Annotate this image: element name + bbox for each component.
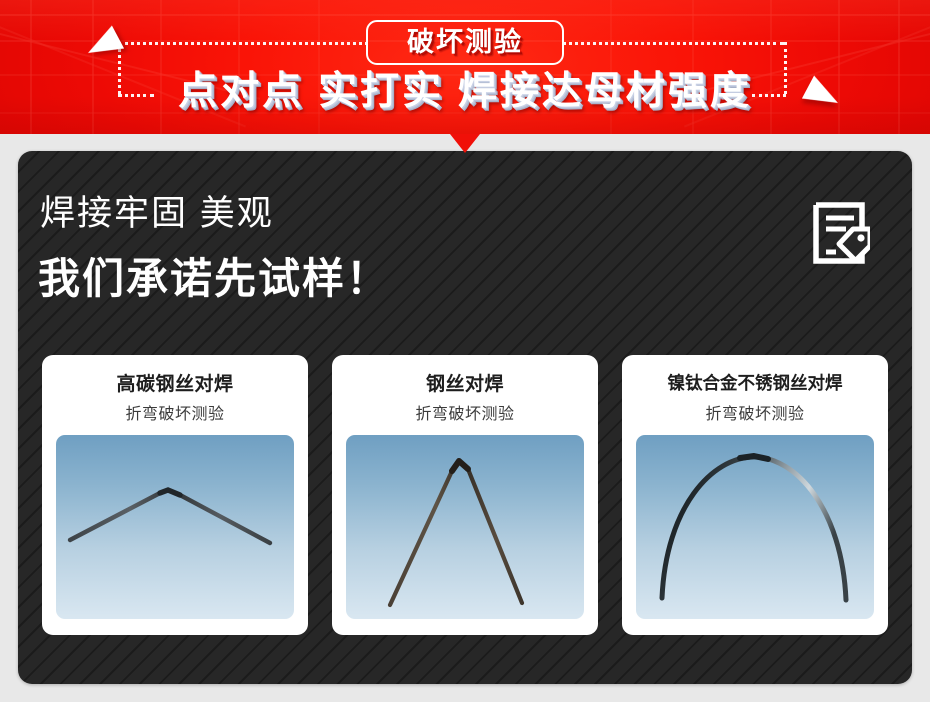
card-subtitle: 折弯破坏测验 bbox=[42, 407, 308, 423]
banner-notch-triangle bbox=[450, 134, 480, 153]
card-subtitle: 折弯破坏测验 bbox=[622, 407, 888, 423]
panel-title-line2: 我们承诺先试样！ bbox=[38, 258, 390, 300]
dotted-line-top-left bbox=[118, 42, 368, 45]
badge-destructive-test: 破坏测验 bbox=[366, 20, 564, 65]
test-card[interactable]: 镍钛合金不锈钢丝对焊 折弯破坏测验 bbox=[622, 355, 888, 635]
banner-headline: 点对点 实打实 焊接达母材强度 bbox=[0, 72, 930, 111]
card-photo bbox=[56, 435, 294, 619]
panel-title-line1: 焊接牢固 美观 bbox=[40, 196, 274, 231]
test-card[interactable]: 高碳钢丝对焊 折弯破坏测验 bbox=[42, 355, 308, 635]
card-photo bbox=[636, 435, 874, 619]
card-title: 镍钛合金不锈钢丝对焊 bbox=[622, 375, 888, 393]
bent-wire-chevron-icon bbox=[56, 435, 294, 619]
document-tag-icon bbox=[812, 202, 870, 269]
bent-wire-arc-icon bbox=[636, 435, 874, 619]
badge-label: 破坏测验 bbox=[407, 29, 523, 56]
header-banner: 破坏测验 点对点 实打实 焊接达母材强度 bbox=[0, 0, 930, 134]
test-card[interactable]: 钢丝对焊 折弯破坏测验 bbox=[332, 355, 598, 635]
card-subtitle: 折弯破坏测验 bbox=[332, 407, 598, 423]
dotted-line-top-right bbox=[562, 42, 784, 45]
bent-wire-peak-icon bbox=[346, 435, 584, 619]
card-title: 钢丝对焊 bbox=[332, 375, 598, 394]
card-title: 高碳钢丝对焊 bbox=[42, 375, 308, 394]
card-photo bbox=[346, 435, 584, 619]
